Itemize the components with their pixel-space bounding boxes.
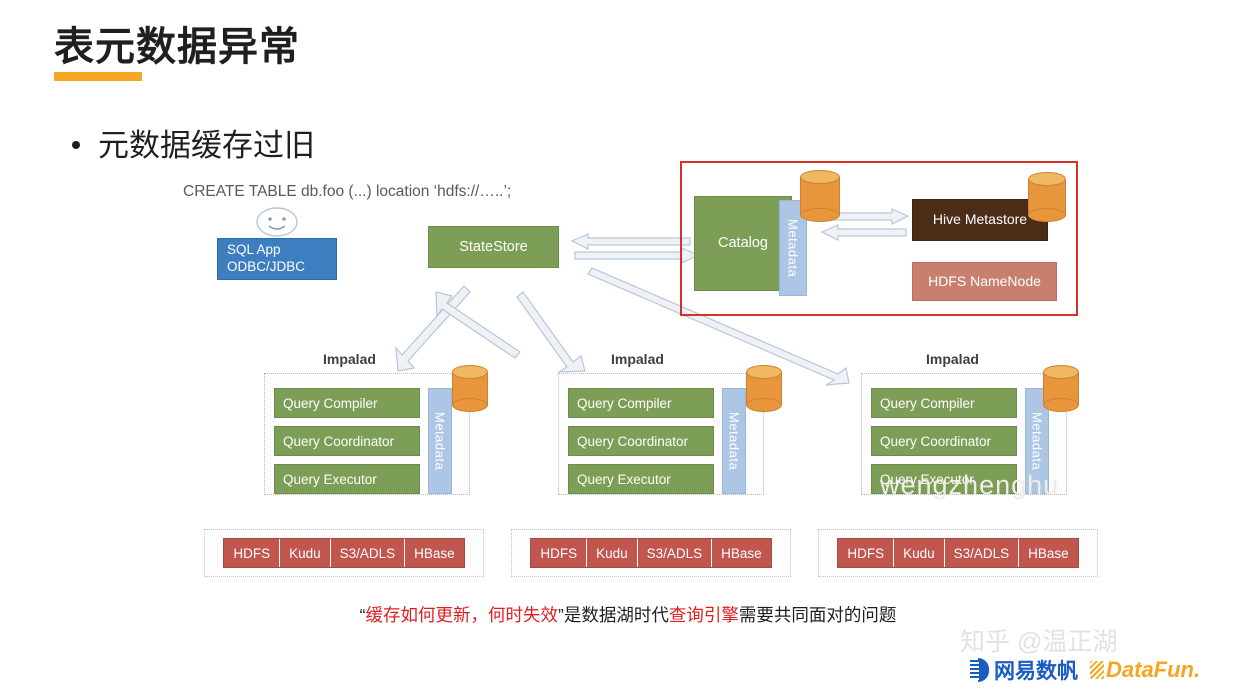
impalad-2-query-compiler[interactable]: Query Compiler — [568, 388, 714, 418]
storage-band-1: HDFS Kudu S3/ADLS HBase — [223, 538, 464, 568]
impalad-2-query-coordinator[interactable]: Query Coordinator — [568, 426, 714, 456]
impalad-2-query-executor[interactable]: Query Executor — [568, 464, 714, 494]
storage-band-3: HDFS Kudu S3/ADLS HBase — [837, 538, 1078, 568]
datafun-logo-text: DataFun. — [1106, 657, 1200, 683]
impalad-1-database-cylinder-icon — [452, 365, 488, 412]
storage-cell-hdfs-1[interactable]: HDFS — [224, 539, 280, 567]
catalog-database-cylinder-icon — [800, 170, 840, 222]
datafun-dots-icon — [1090, 661, 1104, 679]
storage-cell-hdfs-2[interactable]: HDFS — [531, 539, 587, 567]
impalad-3-database-cylinder-icon — [1043, 365, 1079, 412]
datafun-logo: DataFun. — [1090, 657, 1200, 683]
impalad-2-metadata-label: Metadata — [727, 412, 742, 470]
storage-cell-kudu-3[interactable]: Kudu — [894, 539, 945, 567]
sql-app-line2: ODBC/JDBC — [227, 259, 305, 276]
impalad-1-metadata-bar[interactable]: Metadata — [428, 388, 452, 494]
storage-cell-hbase-3[interactable]: HBase — [1019, 539, 1078, 567]
storage-cell-s3adls-1[interactable]: S3/ADLS — [331, 539, 406, 567]
architecture-diagram: CREATE TABLE db.foo (...) location ‘hdfs… — [0, 0, 1256, 696]
impalad-label-2: Impalad — [611, 351, 664, 367]
impalad-2-metadata-bar[interactable]: Metadata — [722, 388, 746, 494]
storage-cell-hbase-1[interactable]: HBase — [405, 539, 464, 567]
netease-mark-icon — [970, 658, 989, 682]
sql-statement-text: CREATE TABLE db.foo (...) location ‘hdfs… — [183, 183, 511, 201]
sql-app-line1: SQL App — [227, 242, 305, 259]
impalad-node-1: Query Compiler Query Coordinator Query E… — [264, 373, 470, 495]
zhihu-watermark: 知乎 @温正湖 — [960, 622, 1117, 658]
impalad-label-1: Impalad — [323, 351, 376, 367]
storage-cell-s3adls-2[interactable]: S3/ADLS — [638, 539, 713, 567]
storage-cell-s3adls-3[interactable]: S3/ADLS — [945, 539, 1020, 567]
storage-layer-1: HDFS Kudu S3/ADLS HBase — [204, 529, 484, 577]
caption-highlight-2: 查询引擎 — [669, 605, 739, 625]
catalog-box[interactable]: Catalog — [694, 196, 792, 291]
caption-highlight-1: 缓存如何更新，何时失效 — [366, 605, 559, 625]
caption-tail: 需要共同面对的问题 — [739, 605, 897, 625]
impalad-2-database-cylinder-icon — [746, 365, 782, 412]
impalad-1-query-coordinator[interactable]: Query Coordinator — [274, 426, 420, 456]
impalad-3-metadata-label: Metadata — [1030, 412, 1045, 470]
storage-layer-3: HDFS Kudu S3/ADLS HBase — [818, 529, 1098, 577]
netease-logo: 网易数帆 — [970, 655, 1078, 685]
hive-metastore-database-cylinder-icon — [1028, 172, 1066, 222]
catalog-metadata-label: Metadata — [786, 219, 801, 277]
storage-cell-kudu-2[interactable]: Kudu — [587, 539, 638, 567]
inner-watermark: wengzhenghu — [880, 470, 1059, 501]
logo-row: 网易数帆 DataFun. — [970, 655, 1200, 685]
connector-arrows — [0, 0, 1256, 696]
impalad-1-metadata-label: Metadata — [433, 412, 448, 470]
impalad-label-3: Impalad — [926, 351, 979, 367]
storage-layer-2: HDFS Kudu S3/ADLS HBase — [511, 529, 791, 577]
caption-middle: 是数据湖时代 — [564, 605, 669, 625]
impalad-1-query-compiler[interactable]: Query Compiler — [274, 388, 420, 418]
storage-cell-hbase-2[interactable]: HBase — [712, 539, 771, 567]
user-smiley-icon — [256, 207, 298, 237]
statestore-box[interactable]: StateStore — [428, 226, 559, 268]
storage-cell-hdfs-3[interactable]: HDFS — [838, 539, 894, 567]
impalad-node-2: Query Compiler Query Coordinator Query E… — [558, 373, 764, 495]
netease-logo-text: 网易数帆 — [994, 655, 1078, 685]
impalad-3-query-coordinator[interactable]: Query Coordinator — [871, 426, 1017, 456]
storage-band-2: HDFS Kudu S3/ADLS HBase — [530, 538, 771, 568]
impalad-1-query-executor[interactable]: Query Executor — [274, 464, 420, 494]
impalad-3-query-compiler[interactable]: Query Compiler — [871, 388, 1017, 418]
storage-cell-kudu-1[interactable]: Kudu — [280, 539, 331, 567]
slide-root: 表元数据异常 元数据缓存过旧 CREATE TABLE db.foo (...)… — [0, 0, 1256, 696]
hdfs-namenode-box[interactable]: HDFS NameNode — [912, 262, 1057, 301]
sql-app-box[interactable]: SQL App ODBC/JDBC — [217, 238, 337, 280]
